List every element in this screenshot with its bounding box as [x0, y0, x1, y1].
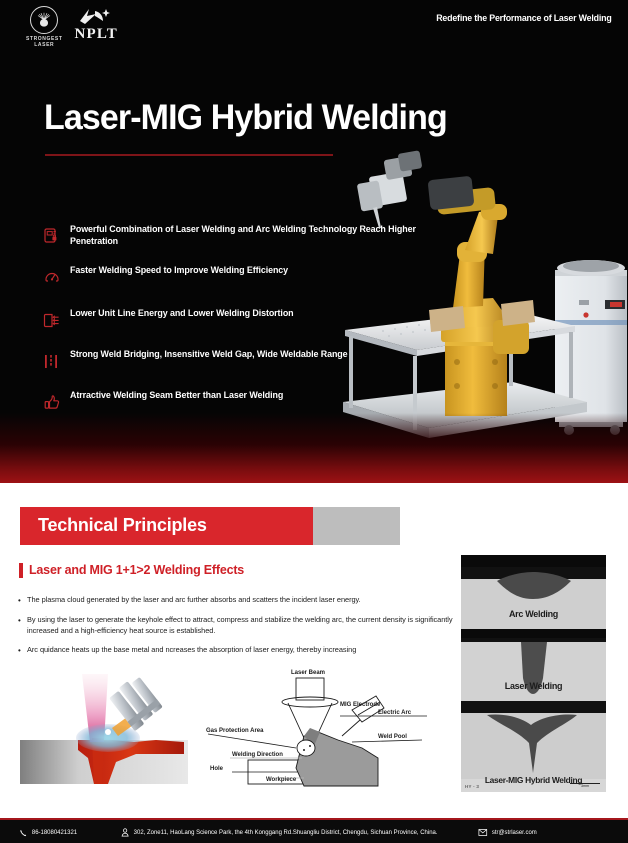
sunburst-icon	[30, 6, 58, 34]
cross-section-caption: Laser Welding	[461, 681, 606, 691]
header-tagline: Redefine the Performance of Laser Weldin…	[437, 13, 612, 24]
cross-section-caption: Arc Welding	[461, 609, 606, 619]
label-electric-arc: Electric Arc	[378, 710, 412, 716]
feature-list: Powerful Combination of Laser Welding an…	[44, 224, 444, 431]
feature-label: Strong Weld Bridging, Insensitive Weld G…	[70, 349, 348, 361]
nplt-wordmark: NPLT	[75, 27, 118, 42]
speedometer-icon	[44, 265, 70, 288]
principle-bullets: • The plasma cloud generated by the lase…	[18, 595, 464, 665]
feature-label: Atrractive Welding Seam Better than Lase…	[70, 390, 283, 402]
label-welding-direction: Welding Direction	[232, 752, 283, 758]
cross-section-caption: Laser-MIG Hybrid Welding	[461, 775, 606, 785]
bullet-dot: •	[18, 615, 27, 636]
feature-item: Powerful Combination of Laser Welding an…	[44, 224, 444, 247]
label-hole: Hole	[210, 766, 224, 772]
phone-icon	[20, 829, 28, 837]
cross-section-arc	[461, 567, 606, 629]
bullet-dot: •	[18, 595, 27, 606]
hybrid-weld-illustration	[16, 662, 192, 792]
feature-label: Powerful Combination of Laser Welding an…	[70, 224, 429, 247]
footer-address: 302, Zone11, HaoLang Science Park, the 4…	[121, 828, 437, 837]
bullet-text: Arc quidance heats up the base metal and…	[27, 645, 356, 656]
label-weld-pool: Weld Pool	[378, 734, 407, 740]
thumbs-up-icon	[44, 390, 70, 413]
bullet-item: • By using the laser to generate the key…	[18, 615, 464, 636]
strongest-laser-logo: STRONGEST LASER	[26, 6, 63, 48]
footer-top-accent	[0, 818, 628, 820]
bullet-text: By using the laser to generate the keyho…	[27, 615, 464, 636]
logo-text-line2: LASER	[34, 42, 54, 48]
bullet-item: • Arc quidance heats up the base metal a…	[18, 645, 464, 656]
title-underline	[45, 154, 333, 156]
footer-email[interactable]: str@strlaser.com	[479, 829, 537, 836]
mail-icon	[479, 829, 488, 836]
label-workpiece: Workpiece	[266, 777, 297, 783]
label-gas-protection-area: Gas Protection Area	[206, 728, 264, 734]
bars-icon	[44, 349, 70, 372]
section-title: Technical Principles	[38, 515, 207, 536]
feature-item: Atrractive Welding Seam Better than Lase…	[44, 390, 444, 413]
subsection-accent-bar	[19, 563, 23, 578]
welding-head	[357, 150, 423, 228]
document-lock-icon	[44, 224, 70, 247]
nplt-logo: NPLT	[75, 7, 118, 42]
top-bar: STRONGEST LASER NPLT Redefine the Perfor…	[0, 0, 628, 52]
footer-bar: 86-18080421321 302, Zone11, HaoLang Scie…	[0, 818, 628, 843]
energy-panel-icon	[44, 308, 70, 331]
footer-contact-row: 86-18080421321 302, Zone11, HaoLang Scie…	[0, 822, 628, 843]
footer-address-text: 302, Zone11, HaoLang Science Park, the 4…	[133, 829, 437, 836]
location-pin-icon	[121, 828, 129, 837]
subsection-title: Laser and MIG 1+1>2 Welding Effects	[29, 563, 244, 577]
feature-item: Lower Unit Line Energy and Lower Welding…	[44, 308, 444, 331]
bullet-text: The plasma cloud generated by the laser …	[27, 595, 361, 606]
feature-label: Lower Unit Line Energy and Lower Welding…	[70, 308, 294, 320]
footer-email-text: str@strlaser.com	[492, 829, 537, 836]
nplt-swoosh-icon	[76, 7, 116, 27]
feature-label: Faster Welding Speed to Improve Welding …	[70, 265, 288, 277]
weld-cross-sections: Arc Welding Laser Welding HY - 3 3mm	[461, 555, 606, 792]
hero-section: STRONGEST LASER NPLT Redefine the Perfor…	[0, 0, 628, 483]
bullet-dot: •	[18, 645, 27, 656]
brand-logos[interactable]: STRONGEST LASER NPLT	[26, 6, 118, 48]
footer-phone-text: 86-18080421321	[32, 829, 77, 836]
hero-gradient-divider	[0, 413, 628, 483]
feature-item: Strong Weld Bridging, Insensitive Weld G…	[44, 349, 444, 372]
label-mig-electrode: MIG Electrode	[340, 702, 381, 708]
label-laser-beam: Laser Beam	[291, 670, 325, 676]
feature-item: Faster Welding Speed to Improve Welding …	[44, 265, 444, 288]
process-schematic: Laser Beam MIG Electrode Electric Arc Ga…	[192, 662, 460, 792]
page-title: Laser-MIG Hybrid Welding	[44, 98, 447, 138]
poster-page: STRONGEST LASER NPLT Redefine the Perfor…	[0, 0, 628, 843]
bullet-item: • The plasma cloud generated by the lase…	[18, 595, 464, 606]
footer-phone[interactable]: 86-18080421321	[20, 829, 78, 837]
